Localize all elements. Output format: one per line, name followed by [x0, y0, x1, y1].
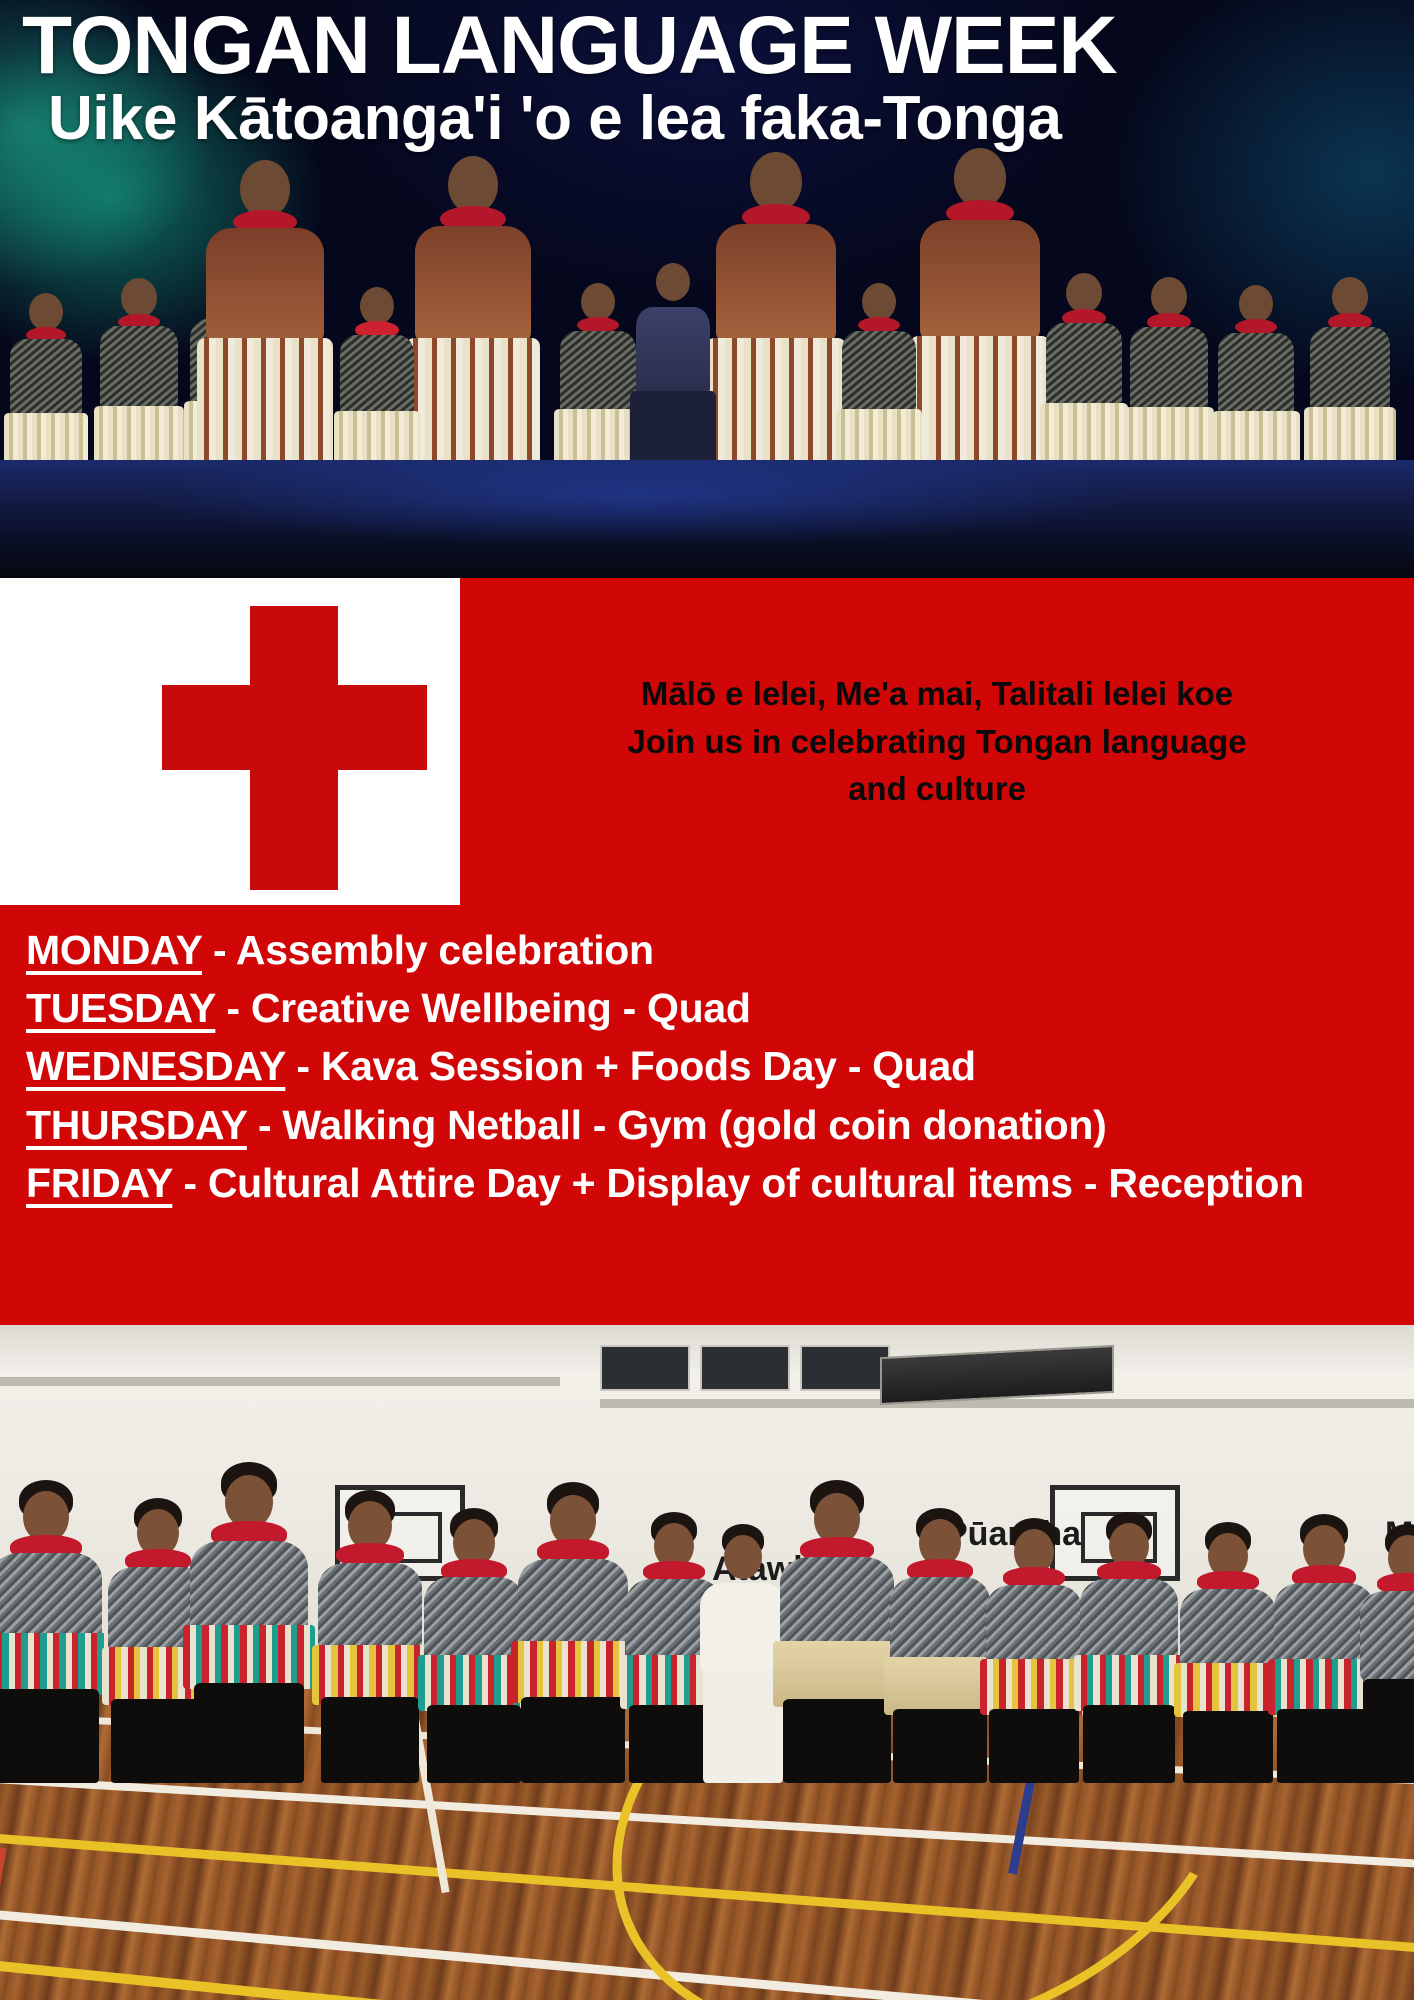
dancer-skirt: [427, 1705, 521, 1783]
dancer-skirt: [521, 1697, 624, 1783]
performer-torso: [10, 339, 82, 419]
dancer-sash: [511, 1641, 634, 1703]
dancer-head: [724, 1535, 762, 1579]
performer-ta-ovala: [910, 336, 1049, 478]
gym-dancer: [1180, 1525, 1276, 1783]
schedule-day-label: WEDNESDAY: [26, 1043, 285, 1089]
performer-torso: [1046, 323, 1122, 409]
performer-head: [750, 152, 802, 212]
gym-dancer: [518, 1485, 628, 1783]
page-title: TONGAN LANGUAGE WEEK: [0, 0, 1414, 86]
dancer-skirt: [1083, 1705, 1175, 1783]
gym-ceiling-beam: [0, 1377, 560, 1386]
dancer-sash: [1074, 1655, 1184, 1711]
schedule-detail: - Assembly celebration: [202, 927, 654, 973]
schedule-detail: - Walking Netball - Gym (gold coin donat…: [247, 1102, 1107, 1148]
performer-figure: [636, 263, 710, 483]
school-gym-dance-photo: Atawhai Pūaroha M: [0, 1325, 1414, 2000]
schedule-day-label: MONDAY: [26, 927, 202, 973]
dancer-tapa-sash: [773, 1641, 901, 1707]
performer-torso: [636, 307, 710, 397]
dancer-top: [1360, 1591, 1414, 1681]
gym-dancer: [1274, 1517, 1374, 1783]
schedule-row-thursday: THURSDAY - Walking Netball - Gym (gold c…: [26, 1096, 1406, 1154]
flag-and-welcome-band: Mālō e lelei, Me'a mai, Talitali lelei k…: [0, 578, 1414, 905]
dancer-skirt: [989, 1709, 1079, 1783]
performer-ta-ovala: [406, 338, 541, 478]
gym-dancer-group: [0, 1453, 1414, 1783]
schedule-row-monday: MONDAY - Assembly celebration: [26, 921, 1406, 979]
performer-ta-ovala: [706, 338, 845, 478]
performer-head: [1332, 277, 1368, 317]
welcome-line-1: Mālō e lelei, Me'a mai, Talitali lelei k…: [641, 670, 1233, 718]
gym-dancer: [1080, 1515, 1178, 1783]
dancer-skirt: [1277, 1709, 1371, 1783]
performer-torso: [920, 220, 1040, 342]
performer-head: [360, 287, 394, 325]
performer-torso: [206, 228, 324, 344]
performer-figure: [1218, 285, 1294, 483]
dancer-skirt: [1183, 1711, 1273, 1783]
lead-performer-figure: [415, 156, 531, 478]
welcome-line-2: Join us in celebrating Tongan language: [627, 718, 1246, 766]
performer-head: [1151, 277, 1187, 317]
weekly-schedule: MONDAY - Assembly celebration TUESDAY - …: [0, 905, 1414, 1325]
gym-dancer: [318, 1493, 422, 1783]
performer-figure: [340, 287, 414, 483]
schedule-detail: - Cultural Attire Day + Display of cultu…: [172, 1160, 1304, 1206]
dancer-skirt: [783, 1699, 890, 1783]
gym-dancer: [0, 1483, 102, 1783]
dancer-skirt: [703, 1667, 784, 1783]
page-subtitle: Uike Kātoanga'i 'o e lea faka-Tonga: [0, 86, 1414, 150]
title-block: TONGAN LANGUAGE WEEK Uike Kātoanga'i 'o …: [0, 0, 1414, 150]
schedule-day-label: TUESDAY: [26, 985, 215, 1031]
performer-head: [1239, 285, 1273, 323]
performer-torso: [1310, 327, 1390, 413]
performer-figure: [560, 283, 636, 483]
performer-ta-ovala: [197, 338, 334, 478]
gym-dancer: [890, 1511, 990, 1783]
welcome-line-3: and culture: [848, 765, 1026, 813]
dancer-skirt: [0, 1689, 99, 1783]
gym-dancer: [424, 1511, 524, 1783]
dancer-sash: [0, 1633, 109, 1695]
performer-torso: [1130, 327, 1208, 413]
gym-ceiling-beam: [600, 1399, 1414, 1408]
performer-figure: [842, 283, 916, 483]
dancer-skirt: [893, 1709, 987, 1783]
performer-torso: [716, 224, 836, 344]
dancer-sash: [312, 1645, 428, 1705]
welcome-message: Mālō e lelei, Me'a mai, Talitali lelei k…: [460, 578, 1414, 905]
schedule-row-wednesday: WEDNESDAY - Kava Session + Foods Day - Q…: [26, 1037, 1406, 1095]
performer-figure: [1046, 273, 1122, 483]
schedule-detail: - Kava Session + Foods Day - Quad: [285, 1043, 975, 1089]
schedule-row-tuesday: TUESDAY - Creative Wellbeing - Quad: [26, 979, 1406, 1037]
gym-dancer: [780, 1483, 894, 1783]
performer-figure: [1130, 277, 1208, 483]
schedule-day-label: THURSDAY: [26, 1102, 247, 1148]
performer-figure: [100, 278, 178, 483]
dancer-sash: [183, 1625, 315, 1689]
performer-torso: [842, 331, 916, 415]
lead-performer-figure: [920, 148, 1040, 478]
performer-head: [121, 278, 157, 318]
dancer-sash: [1174, 1663, 1282, 1717]
performer-head: [1066, 273, 1102, 313]
schedule-row-friday: FRIDAY - Cultural Attire Day + Display o…: [26, 1154, 1406, 1212]
performer-figure: [10, 293, 82, 483]
dancer-tapa-sash: [884, 1657, 996, 1715]
gym-dancer: [1360, 1527, 1414, 1783]
dancer-sash: [980, 1659, 1088, 1715]
performer-figure: [1310, 277, 1390, 483]
performer-torso: [340, 335, 414, 417]
gym-window: [800, 1345, 890, 1391]
gym-dancer: [190, 1465, 308, 1783]
lead-performer-figure: [716, 152, 836, 478]
flag-cross-horizontal-bar: [162, 685, 427, 770]
performer-head: [29, 293, 63, 331]
performer-torso: [415, 226, 531, 344]
lead-performer-figure: [206, 160, 324, 478]
hero-section: TONGAN LANGUAGE WEEK Uike Kātoanga'i 'o …: [0, 0, 1414, 578]
gym-window: [600, 1345, 690, 1391]
performer-head: [581, 283, 615, 321]
performer-torso: [560, 331, 636, 415]
performer-head: [954, 148, 1006, 208]
tonga-flag: [0, 578, 460, 905]
performer-torso: [1218, 333, 1294, 417]
dancer-skirt: [321, 1697, 419, 1783]
gym-window: [700, 1345, 790, 1391]
schedule-day-label: FRIDAY: [26, 1160, 172, 1206]
performer-head: [862, 283, 896, 321]
court-line-red: [0, 1846, 7, 2000]
dancer-skirt: [194, 1683, 305, 1783]
tongan-language-week-poster: TONGAN LANGUAGE WEEK Uike Kātoanga'i 'o …: [0, 0, 1414, 2000]
schedule-detail: - Creative Wellbeing - Quad: [215, 985, 750, 1031]
performer-head: [656, 263, 690, 301]
dancer-skirt: [1363, 1679, 1414, 1783]
gym-dancer: [986, 1521, 1082, 1783]
performer-torso: [100, 326, 178, 412]
stage-floor: [0, 460, 1414, 578]
